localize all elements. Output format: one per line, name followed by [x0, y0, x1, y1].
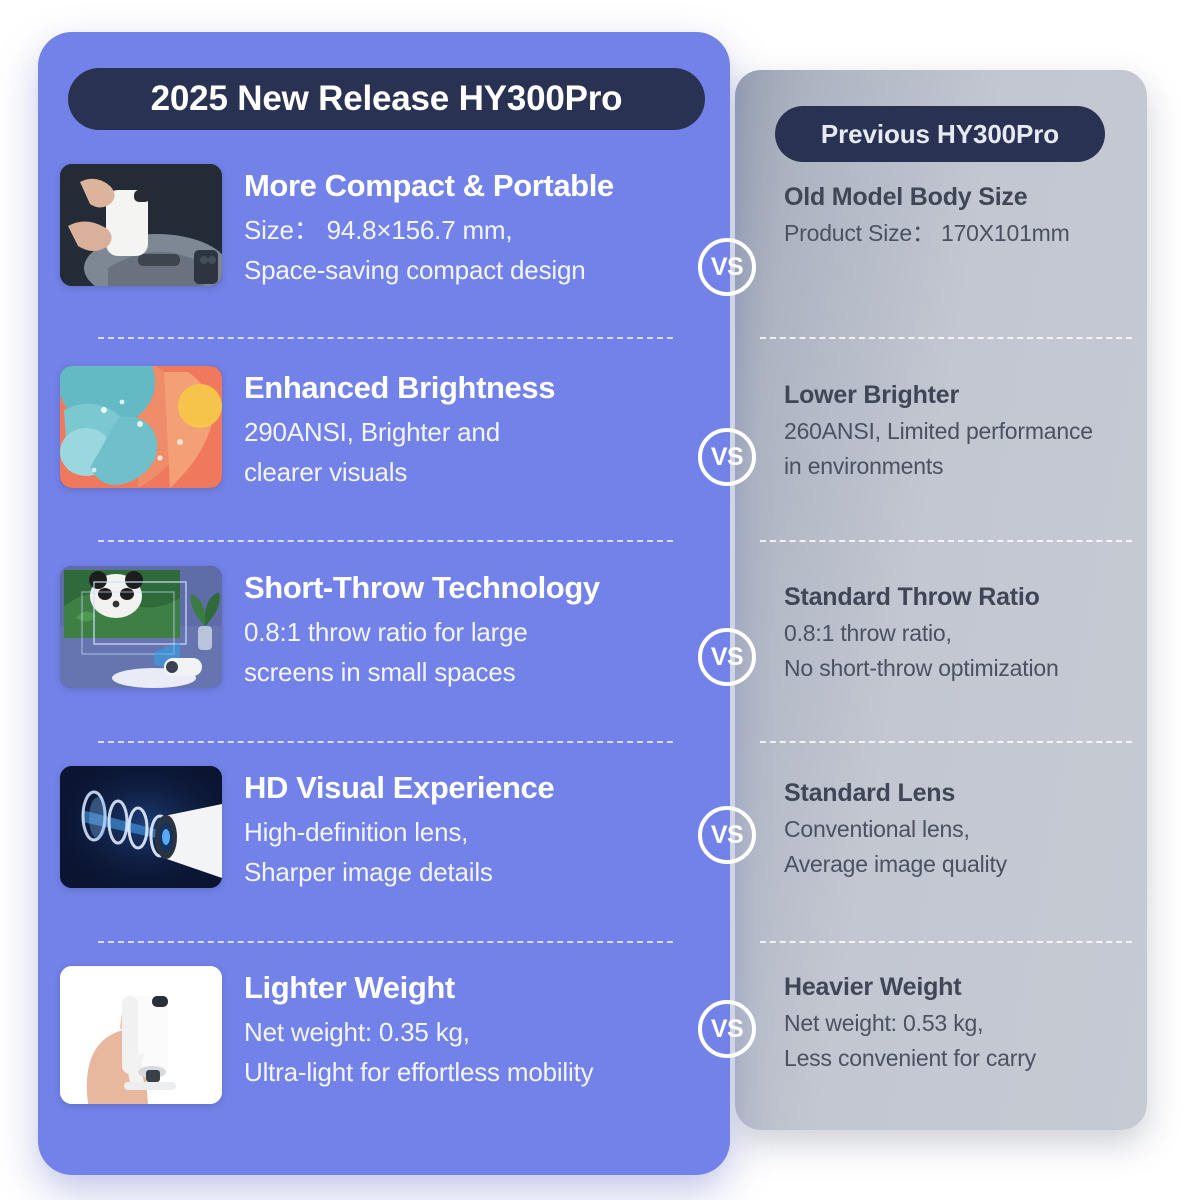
feature-line: 0.8:1 throw ratio for large [244, 612, 700, 652]
vs-badge: VS [698, 238, 756, 296]
vs-badge: VS [698, 806, 756, 864]
new-feature-row: Lighter Weight Net weight: 0.35 kg, Ultr… [60, 966, 700, 1104]
projector-panda-screen-photo [60, 566, 222, 688]
previous-feature-line: Conventional lens, [784, 812, 1139, 847]
divider [98, 741, 673, 743]
divider [98, 337, 673, 339]
vs-badge: VS [698, 428, 756, 486]
comparison-infographic: 2025 New Release HY300Pro Previous HY300… [0, 0, 1200, 1200]
feature-title: Short-Throw Technology [244, 570, 700, 606]
vs-label: VS [711, 253, 743, 282]
previous-feature-line: Less convenient for carry [784, 1041, 1139, 1076]
previous-feature-row: Standard Throw Ratio 0.8:1 throw ratio, … [784, 582, 1139, 685]
feature-title: HD Visual Experience [244, 770, 700, 806]
previous-feature-line: Net weight: 0.53 kg, [784, 1006, 1139, 1041]
previous-feature-row: Heavier Weight Net weight: 0.53 kg, Less… [784, 972, 1139, 1075]
previous-feature-line: in environments [784, 449, 1139, 484]
feature-line: Size： 94.8×156.7 mm, [244, 210, 700, 250]
feature-line: Ultra-light for effortless mobility [244, 1052, 700, 1092]
divider [760, 941, 1132, 943]
feature-line: 290ANSI, Brighter and [244, 412, 700, 452]
previous-feature-title: Old Model Body Size [784, 182, 1139, 212]
previous-feature-line: No short-throw optimization [784, 651, 1139, 686]
vs-label: VS [711, 821, 743, 850]
previous-model-header-badge: Previous HY300Pro [775, 106, 1105, 162]
hand-holding-projector-photo [60, 966, 222, 1104]
vs-badge: VS [698, 1000, 756, 1058]
new-feature-row: More Compact & Portable Size： 94.8×156.7… [60, 164, 700, 291]
previous-feature-row: Standard Lens Conventional lens, Average… [784, 778, 1139, 881]
feature-line: Space-saving compact design [244, 250, 700, 290]
previous-feature-row: Old Model Body Size Product Size： 170X10… [784, 182, 1139, 251]
divider [98, 540, 673, 542]
feature-copy: Enhanced Brightness 290ANSI, Brighter an… [244, 366, 700, 493]
feature-title: Enhanced Brightness [244, 370, 700, 406]
exploded-lens-diagram-photo [60, 766, 222, 888]
previous-feature-title: Heavier Weight [784, 972, 1139, 1002]
feature-line: clearer visuals [244, 452, 700, 492]
vs-badge: VS [698, 628, 756, 686]
previous-feature-line: Product Size： 170X101mm [784, 216, 1139, 251]
previous-feature-title: Standard Lens [784, 778, 1139, 808]
feature-line: screens in small spaces [244, 652, 700, 692]
new-feature-row: Enhanced Brightness 290ANSI, Brighter an… [60, 366, 700, 493]
feature-copy: Lighter Weight Net weight: 0.35 kg, Ultr… [244, 966, 700, 1093]
feature-title: More Compact & Portable [244, 168, 700, 204]
previous-feature-title: Lower Brighter [784, 380, 1139, 410]
feature-line: Sharper image details [244, 852, 700, 892]
previous-feature-row: Lower Brighter 260ANSI, Limited performa… [784, 380, 1139, 483]
new-model-header-badge: 2025 New Release HY300Pro [68, 68, 705, 130]
feature-copy: More Compact & Portable Size： 94.8×156.7… [244, 164, 700, 291]
divider [760, 540, 1132, 542]
new-feature-row: HD Visual Experience High-definition len… [60, 766, 700, 893]
previous-feature-line: 0.8:1 throw ratio, [784, 616, 1139, 651]
divider [760, 741, 1132, 743]
new-feature-row: Short-Throw Technology 0.8:1 throw ratio… [60, 566, 700, 693]
vs-label: VS [711, 443, 743, 472]
colorful-glossy-petals-photo [60, 366, 222, 488]
vs-label: VS [711, 643, 743, 672]
projector-in-backpack-photo [60, 164, 222, 286]
previous-feature-line: Average image quality [784, 847, 1139, 882]
feature-title: Lighter Weight [244, 970, 700, 1006]
feature-line: Net weight: 0.35 kg, [244, 1012, 700, 1052]
previous-model-header-label: Previous HY300Pro [821, 119, 1059, 150]
previous-feature-line: 260ANSI, Limited performance [784, 414, 1139, 449]
divider [98, 941, 673, 943]
vs-label: VS [711, 1015, 743, 1044]
feature-copy: HD Visual Experience High-definition len… [244, 766, 700, 893]
divider [760, 337, 1132, 339]
feature-copy: Short-Throw Technology 0.8:1 throw ratio… [244, 566, 700, 693]
previous-feature-title: Standard Throw Ratio [784, 582, 1139, 612]
feature-line: High-definition lens, [244, 812, 700, 852]
new-model-header-label: 2025 New Release HY300Pro [151, 79, 623, 119]
